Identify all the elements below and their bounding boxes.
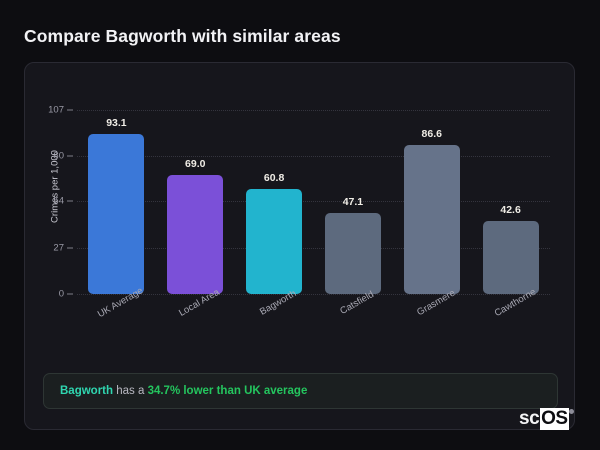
bar[interactable]	[88, 134, 144, 294]
y-axis-tick-label: 27	[53, 242, 64, 253]
plot-area: 0275480107 93.1UK Average69.0Local Area6…	[77, 110, 550, 294]
y-axis-tick-label: 54	[53, 196, 64, 207]
bar-chart: Crimes per 1,000 0275480107 93.1UK Avera…	[25, 63, 576, 353]
bar-series: 93.1UK Average69.0Local Area60.8Bagworth…	[77, 110, 550, 294]
y-axis-tick-mark	[67, 110, 73, 111]
y-axis-tick-label: 0	[59, 289, 64, 300]
logo-highlight-text: OS	[540, 408, 568, 430]
insight-callout-text: Bagworth has a 34.7% lower than UK avera…	[60, 385, 307, 397]
bar-group[interactable]: 47.1Catsfield	[325, 110, 381, 294]
gridline	[77, 294, 550, 295]
bar-value-label: 47.1	[325, 196, 381, 208]
bar[interactable]	[167, 175, 223, 294]
callout-connector: has a	[113, 385, 148, 397]
callout-metric: 34.7% lower than UK average	[148, 385, 308, 397]
bar-group[interactable]: 86.6Grasmere	[404, 110, 460, 294]
y-axis-tick-mark	[67, 294, 73, 295]
y-axis-tick-mark	[67, 201, 73, 202]
bar-value-label: 60.8	[246, 172, 302, 184]
bar-value-label: 69.0	[167, 158, 223, 170]
bar[interactable]	[325, 213, 381, 294]
bar-value-label: 93.1	[88, 117, 144, 129]
y-axis-tick-label: 80	[53, 151, 64, 162]
bar[interactable]	[246, 189, 302, 294]
bar-group[interactable]: 69.0Local Area	[167, 110, 223, 294]
bar-group[interactable]: 42.6Cawthorne	[483, 110, 539, 294]
bar[interactable]	[404, 145, 460, 294]
bar-group[interactable]: 60.8Bagworth	[246, 110, 302, 294]
y-axis-tick-label: 107	[48, 105, 64, 116]
bar-value-label: 42.6	[483, 204, 539, 216]
y-axis-tick-mark	[67, 247, 73, 248]
page-title: Compare Bagworth with similar areas	[24, 26, 341, 47]
bar[interactable]	[483, 221, 539, 294]
callout-area-name: Bagworth	[60, 385, 113, 397]
logo-dot-icon	[569, 409, 574, 414]
comparison-chart-card: Crimes per 1,000 0275480107 93.1UK Avera…	[24, 62, 575, 430]
logo-prefix-text: sc	[519, 408, 539, 430]
app-root: Compare Bagworth with similar areas Crim…	[0, 0, 600, 450]
insight-callout: Bagworth has a 34.7% lower than UK avera…	[43, 373, 558, 409]
y-axis-title: Crimes per 1,000	[50, 127, 61, 247]
bar-value-label: 86.6	[404, 128, 460, 140]
y-axis-tick-mark	[67, 156, 73, 157]
bar-group[interactable]: 93.1UK Average	[88, 110, 144, 294]
scos-logo: sc OS	[519, 408, 569, 430]
